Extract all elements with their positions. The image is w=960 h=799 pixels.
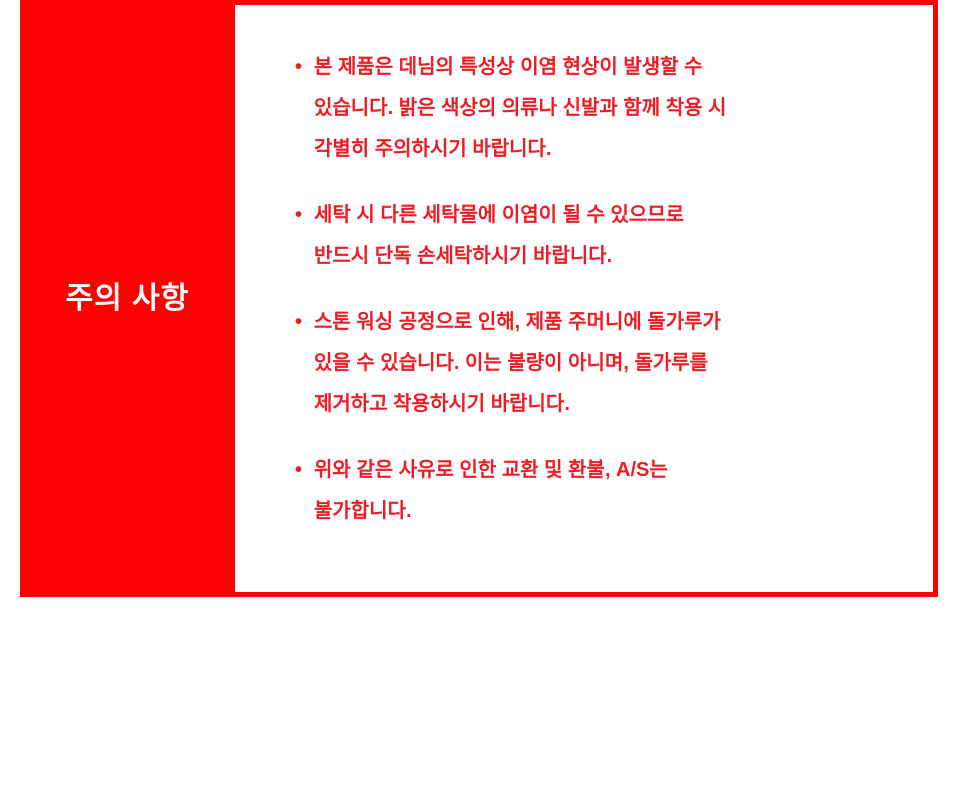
list-item-line: 불가합니다.	[314, 491, 903, 532]
list-item: •세탁 시 다른 세탁물에 이염이 될 수 있으므로반드시 단독 손세탁하시기 …	[295, 195, 903, 277]
list-item-line: 있을 수 있습니다. 이는 불량이 아니며, 돌가루를	[314, 343, 903, 384]
notice-label-panel: 주의 사항	[20, 0, 235, 597]
list-item: •스톤 워싱 공정으로 인해, 제품 주머니에 돌가루가있을 수 있습니다. 이…	[295, 302, 903, 425]
bullet-icon: •	[295, 302, 314, 343]
bullet-icon: •	[295, 47, 314, 88]
notice-list: •본 제품은 데님의 특성상 이염 현상이 발생할 수있습니다. 밝은 색상의 …	[295, 47, 903, 532]
list-item-line: 스톤 워싱 공정으로 인해, 제품 주머니에 돌가루가	[314, 302, 903, 343]
list-item-line: 각별히 주의하시기 바랍니다.	[314, 129, 903, 170]
list-item-text: 스톤 워싱 공정으로 인해, 제품 주머니에 돌가루가있을 수 있습니다. 이는…	[314, 302, 903, 425]
list-item: •본 제품은 데님의 특성상 이염 현상이 발생할 수있습니다. 밝은 색상의 …	[295, 47, 903, 170]
list-item-line: 세탁 시 다른 세탁물에 이염이 될 수 있으므로	[314, 195, 903, 236]
list-item-text: 본 제품은 데님의 특성상 이염 현상이 발생할 수있습니다. 밝은 색상의 의…	[314, 47, 903, 170]
list-item-line: 제거하고 착용하시기 바랍니다.	[314, 384, 903, 425]
list-item: •위와 같은 사유로 인한 교환 및 환불, A/S는불가합니다.	[295, 450, 903, 532]
list-item-line: 위와 같은 사유로 인한 교환 및 환불, A/S는	[314, 450, 903, 491]
bullet-icon: •	[295, 450, 314, 491]
list-item-line: 있습니다. 밝은 색상의 의류나 신발과 함께 착용 시	[314, 88, 903, 129]
list-item-line: 반드시 단독 손세탁하시기 바랍니다.	[314, 236, 903, 277]
page-title: 주의 사항	[66, 284, 190, 314]
bullet-icon: •	[295, 195, 314, 236]
notice-content-panel: •본 제품은 데님의 특성상 이염 현상이 발생할 수있습니다. 밝은 색상의 …	[235, 0, 938, 597]
list-item-text: 세탁 시 다른 세탁물에 이염이 될 수 있으므로반드시 단독 손세탁하시기 바…	[314, 195, 903, 277]
list-item-line: 본 제품은 데님의 특성상 이염 현상이 발생할 수	[314, 47, 903, 88]
list-item-text: 위와 같은 사유로 인한 교환 및 환불, A/S는불가합니다.	[314, 450, 903, 532]
product-care-notice-card: 주의 사항 •본 제품은 데님의 특성상 이염 현상이 발생할 수있습니다. 밝…	[20, 0, 938, 597]
